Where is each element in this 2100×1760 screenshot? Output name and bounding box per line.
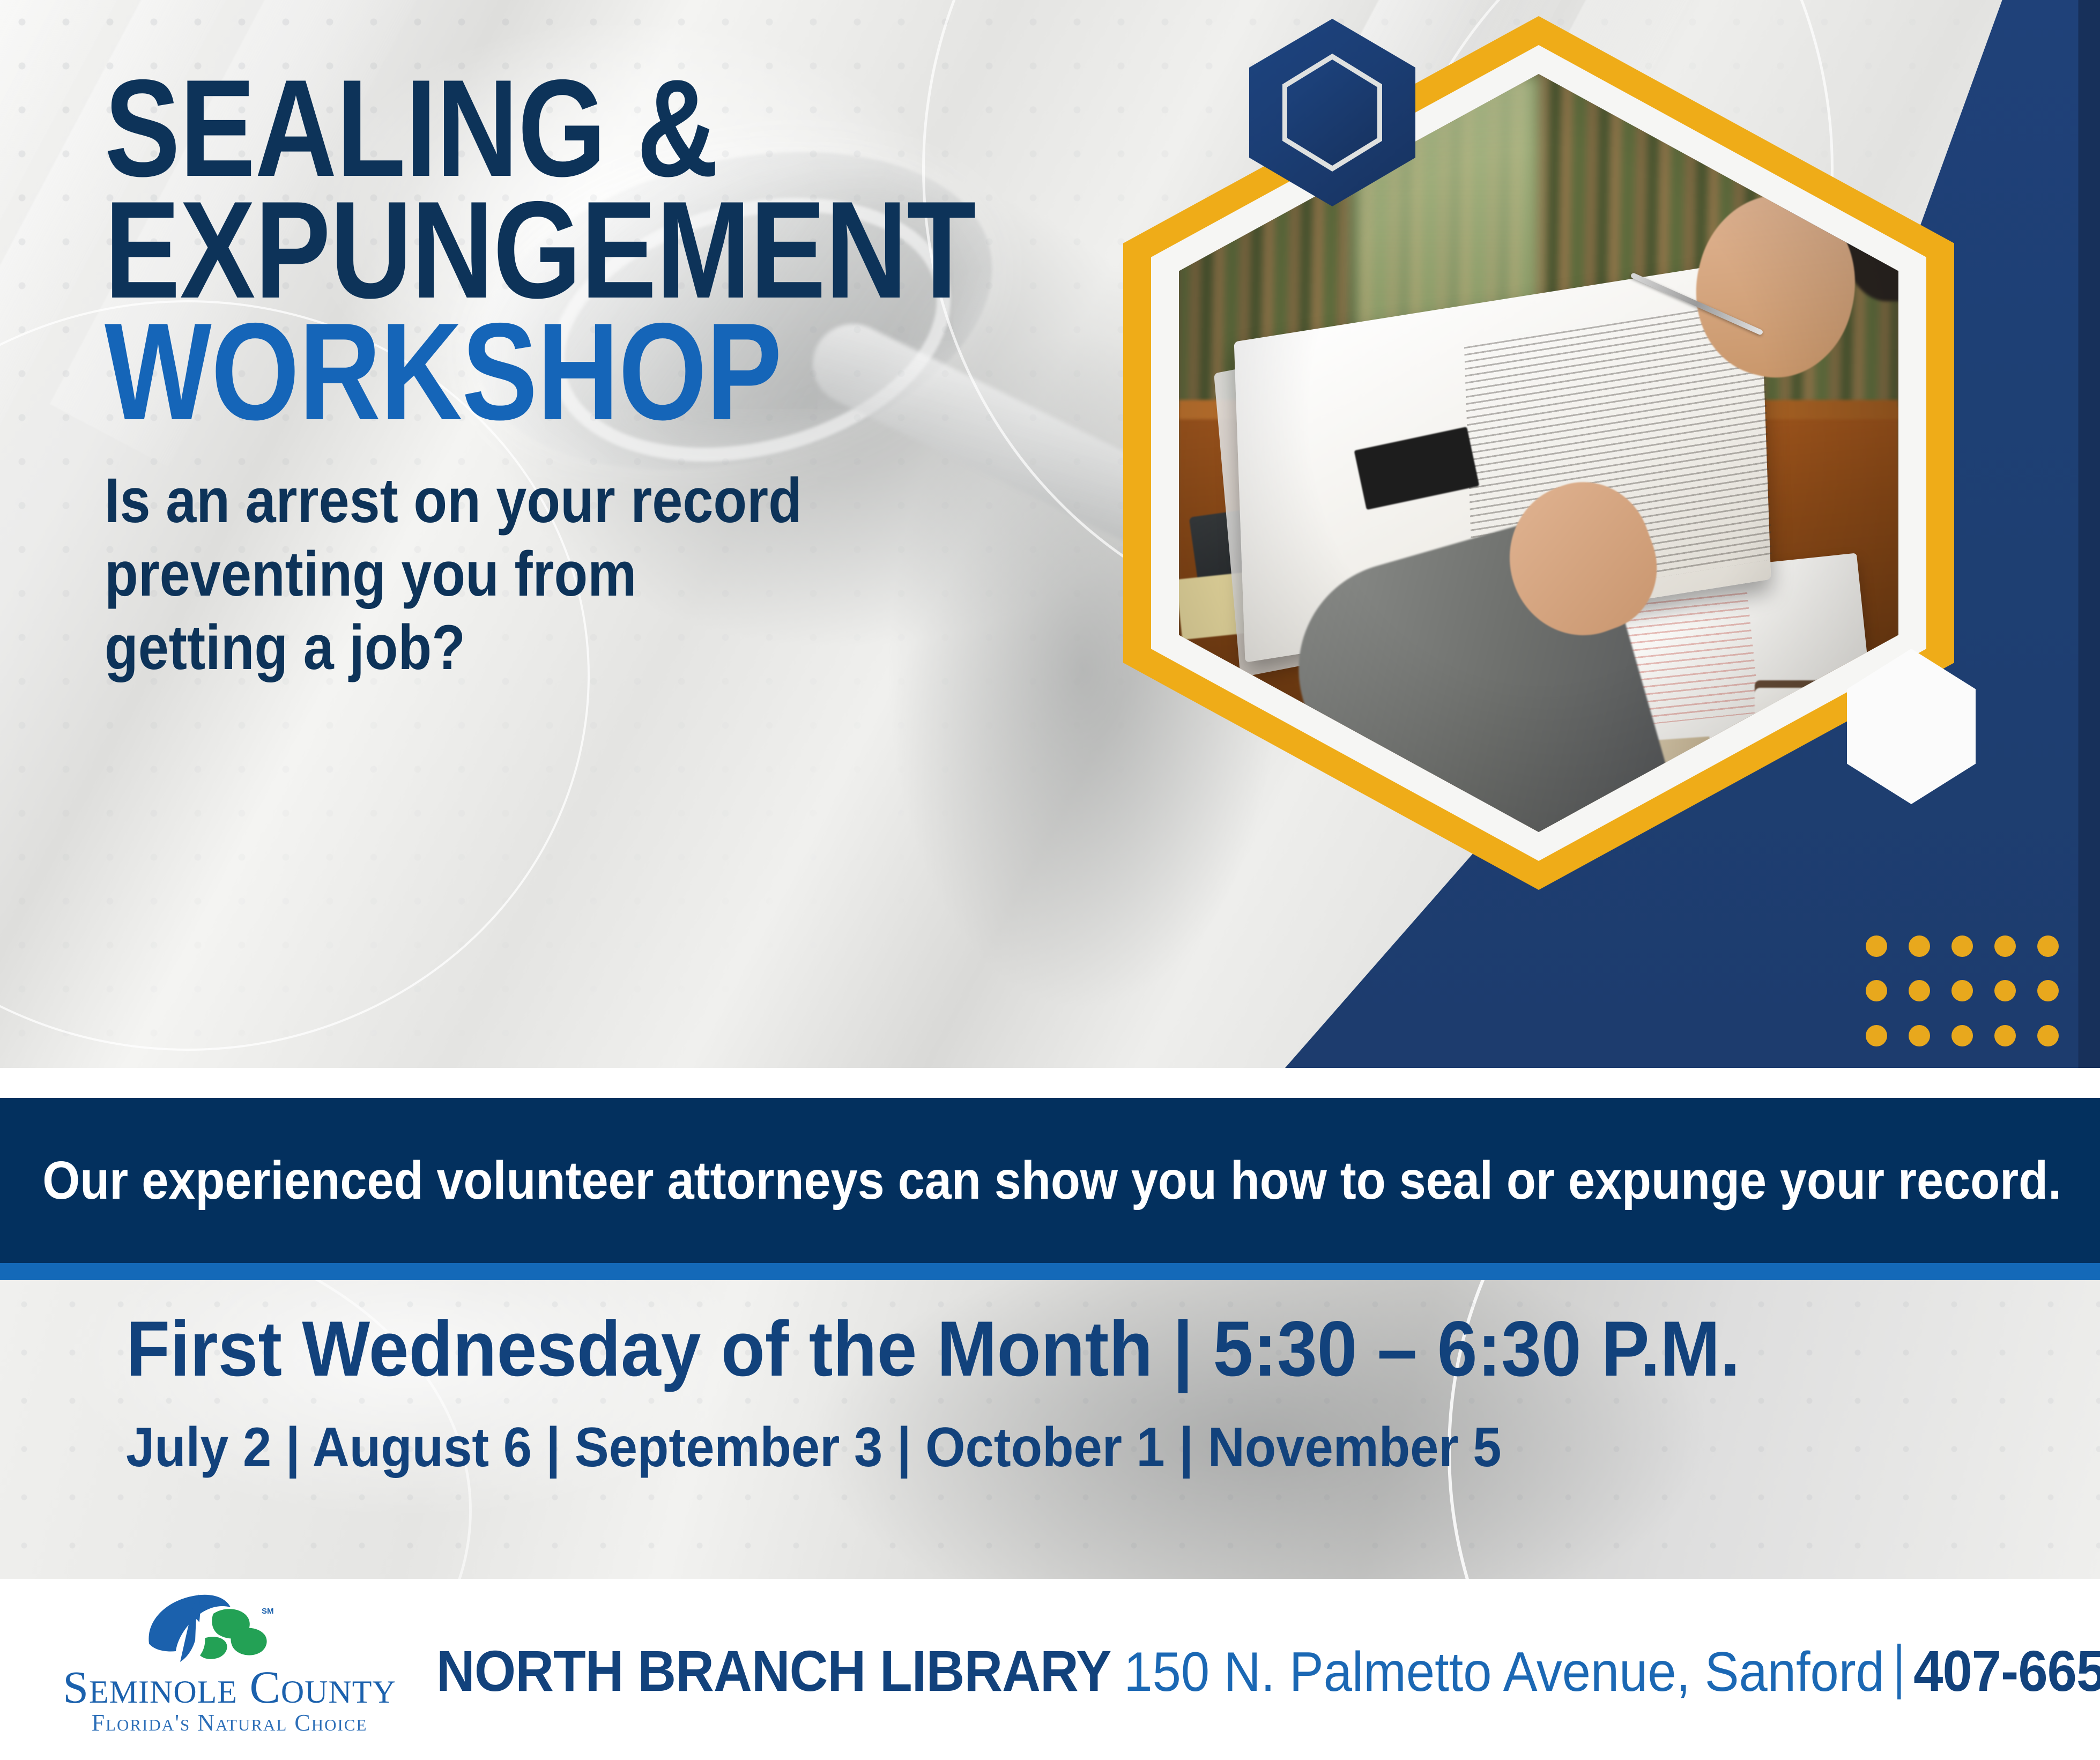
hero-section: SEALING & EXPUNGEMENT WORKSHOP Is an arr…: [0, 0, 2100, 1068]
gold-dot: [1994, 1025, 2016, 1046]
gold-dot: [2037, 1025, 2059, 1046]
schedule-dates-line: July 2 | August 6 | September 3 | Octobe…: [126, 1419, 1740, 1476]
title-line-workshop: WORKSHOP: [105, 310, 962, 432]
banner-blue-stripe: [0, 1263, 2100, 1280]
schedule-copy-block: First Wednesday of the Month | 5:30 – 6:…: [126, 1308, 1881, 1476]
logo-wordmark: Seminole County: [47, 1664, 412, 1710]
seminole-county-logo: SM Seminole County Florida's Natural Cho…: [38, 1589, 413, 1750]
subhead-line-3: getting a job?: [105, 611, 1014, 685]
title-line-sealing: SEALING &: [105, 67, 962, 189]
hero-subheadline: Is an arrest on your record preventing y…: [105, 464, 1014, 685]
hero-copy-block: SEALING & EXPUNGEMENT WORKSHOP Is an arr…: [105, 67, 1150, 685]
gold-dot: [1909, 935, 1930, 957]
title-line-expungement: EXPUNGEMENT: [105, 189, 962, 310]
footer-separator: [1897, 1644, 1901, 1699]
gold-dot: [1951, 1025, 1973, 1046]
gold-dot: [1994, 935, 2016, 957]
gold-dot: [1994, 980, 2016, 1001]
gold-dot: [2037, 935, 2059, 957]
gold-dot: [1951, 935, 1973, 957]
logo-tagline: Florida's Natural Choice: [47, 1711, 412, 1735]
gold-dot: [1866, 980, 1887, 1001]
attorney-banner: Our experienced volunteer attorneys can …: [0, 1098, 2100, 1263]
gold-dot: [1866, 1025, 1887, 1046]
venue-phone: 407-665-1620: [1913, 1637, 2100, 1704]
flyer-canvas: SEALING & EXPUNGEMENT WORKSHOP Is an arr…: [0, 0, 2100, 1760]
gold-dot-grid: [1866, 935, 2080, 1068]
schedule-headline: First Wednesday of the Month | 5:30 – 6:…: [126, 1308, 1740, 1390]
banner-text: Our experienced volunteer attorneys can …: [0, 1150, 2061, 1212]
gold-dot: [2037, 980, 2059, 1001]
venue-name: NORTH BRANCH LIBRARY: [436, 1637, 1111, 1704]
svg-text:SM: SM: [262, 1607, 274, 1616]
gold-dot: [1909, 1025, 1930, 1046]
schedule-section: First Wednesday of the Month | 5:30 – 6:…: [0, 1280, 2100, 1579]
venue-address: 150 N. Palmetto Avenue, Sanford: [1124, 1640, 1884, 1704]
hexagon-photo-frame: [1123, 16, 1954, 890]
white-divider-gap: [0, 1068, 2100, 1098]
footer-venue-info: NORTH BRANCH LIBRARY 150 N. Palmetto Ave…: [436, 1635, 2100, 1704]
gold-dot: [1866, 935, 1887, 957]
gold-dot: [1909, 980, 1930, 1001]
subhead-line-2: preventing you from: [105, 538, 1014, 611]
footer-section: SM Seminole County Florida's Natural Cho…: [0, 1579, 2100, 1760]
seminole-county-logo-mark: SM: [145, 1592, 322, 1673]
subhead-line-1: Is an arrest on your record: [105, 464, 1014, 538]
gold-dot: [1951, 980, 1973, 1001]
